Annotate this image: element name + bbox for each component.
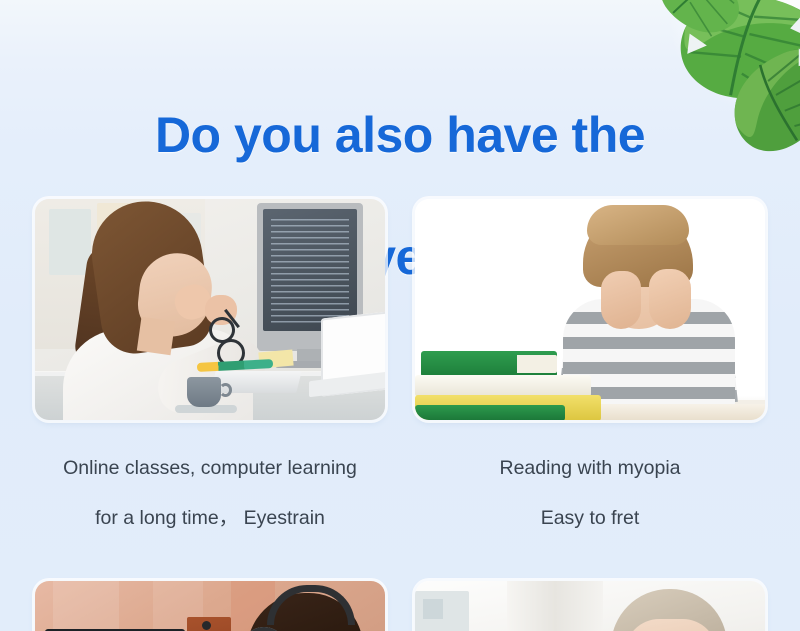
- card-caption-2-line-2: Easy to fret: [415, 506, 765, 531]
- card-caption-1-line-2: for a long time， Eyestrain: [35, 506, 385, 531]
- problem-card-3[interactable]: [35, 581, 385, 631]
- card-caption-1-line-1: Online classes, computer learning: [35, 456, 385, 481]
- problem-card-2[interactable]: Reading with myopia Easy to fret: [415, 199, 765, 556]
- headline-line-1: Do you also have the: [0, 105, 800, 166]
- problem-card-4[interactable]: [415, 581, 765, 631]
- card-caption-1: Online classes, computer learning for a …: [35, 431, 385, 556]
- illustration-boy-with-books: [415, 199, 765, 420]
- card-image-myopia-reading[interactable]: [415, 199, 765, 420]
- illustration-gamer-with-headphones: [35, 581, 385, 631]
- card-row-1: Online classes, computer learning for a …: [35, 199, 765, 556]
- card-image-gaming-headphones[interactable]: [35, 581, 385, 631]
- illustration-woman-at-computer: [35, 199, 385, 420]
- promo-banner-page: Do you also have the following eye probl…: [0, 0, 800, 631]
- problem-card-1[interactable]: Online classes, computer learning for a …: [35, 199, 385, 556]
- card-row-2: [35, 581, 765, 631]
- card-caption-2-line-1: Reading with myopia: [415, 456, 765, 481]
- illustration-woman-with-glasses: [415, 581, 765, 631]
- card-caption-2: Reading with myopia Easy to fret: [415, 431, 765, 556]
- card-image-eyestrain-computer[interactable]: [35, 199, 385, 420]
- problem-card-grid: Online classes, computer learning for a …: [35, 199, 765, 631]
- card-image-woman-glasses-eye-rub[interactable]: [415, 581, 765, 631]
